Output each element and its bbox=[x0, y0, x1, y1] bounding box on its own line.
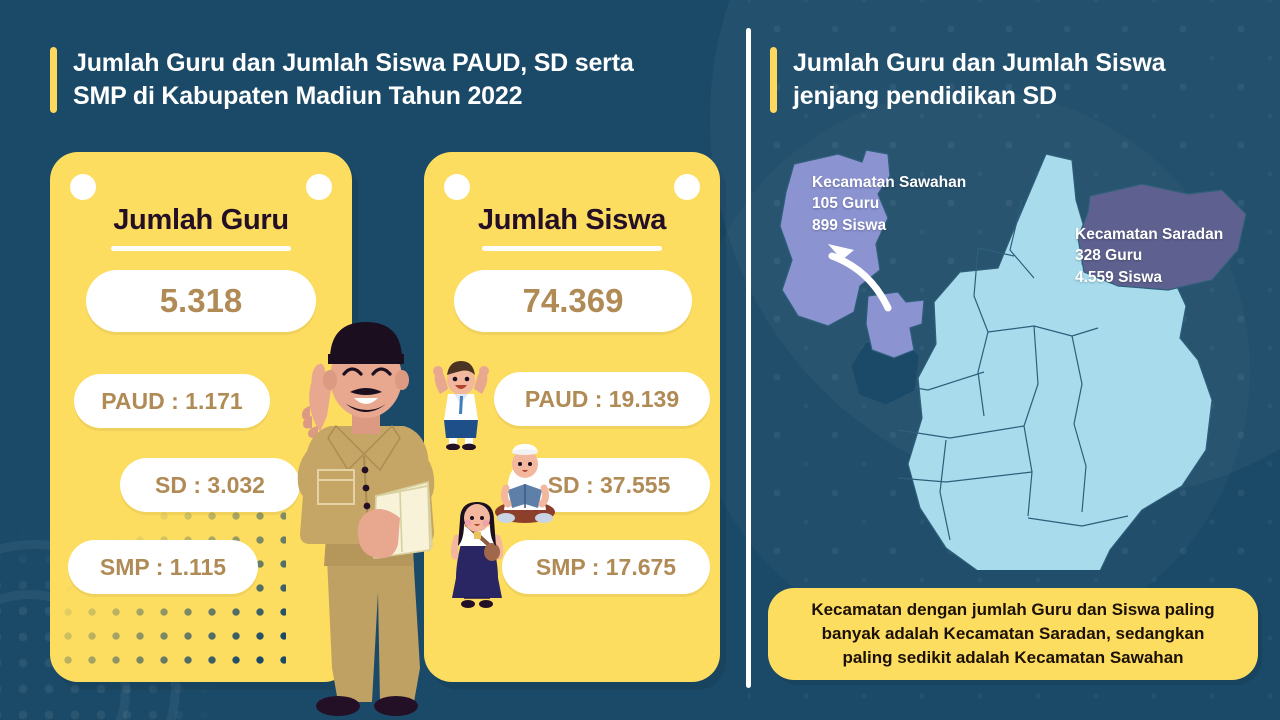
card-title-underline bbox=[111, 246, 291, 251]
siswa-total-value: 74.369 bbox=[454, 270, 692, 332]
card-title-guru: Jumlah Guru bbox=[50, 204, 352, 237]
left-panel-title: Jumlah Guru dan Jumlah Siswa PAUD, SD se… bbox=[50, 47, 730, 113]
panel-divider bbox=[746, 28, 751, 688]
right-panel-title: Jumlah Guru dan Jumlah Siswa jenjang pen… bbox=[770, 47, 1240, 113]
title-accent-bar bbox=[50, 47, 57, 113]
punch-hole-right-icon bbox=[674, 174, 700, 200]
punch-hole-right-icon bbox=[306, 174, 332, 200]
infographic-canvas: Jumlah Guru dan Jumlah Siswa PAUD, SD se… bbox=[0, 0, 1280, 720]
guru-paud-value: PAUD : 1.171 bbox=[74, 374, 270, 428]
map-summary-note: Kecamatan dengan jumlah Guru dan Siswa p… bbox=[768, 588, 1258, 680]
punch-hole-left-icon bbox=[444, 174, 470, 200]
student-smp-illustration bbox=[448, 500, 506, 610]
right-title-text: Jumlah Guru dan Jumlah Siswa jenjang pen… bbox=[793, 47, 1165, 113]
card-title-siswa: Jumlah Siswa bbox=[424, 204, 720, 237]
title-accent-bar bbox=[770, 47, 777, 113]
map-label-saradan: Kecamatan Saradan 328 Guru 4.559 Siswa bbox=[1075, 224, 1223, 288]
left-title-text: Jumlah Guru dan Jumlah Siswa PAUD, SD se… bbox=[73, 47, 634, 113]
siswa-paud-value: PAUD : 19.139 bbox=[494, 372, 710, 426]
map-label-sawahan: Kecamatan Sawahan 105 Guru 899 Siswa bbox=[812, 172, 966, 236]
student-sd-illustration bbox=[430, 358, 492, 450]
card-title-underline bbox=[482, 246, 662, 251]
punch-hole-left-icon bbox=[70, 174, 96, 200]
siswa-smp-value: SMP : 17.675 bbox=[502, 540, 710, 594]
guru-smp-value: SMP : 1.115 bbox=[68, 540, 258, 594]
